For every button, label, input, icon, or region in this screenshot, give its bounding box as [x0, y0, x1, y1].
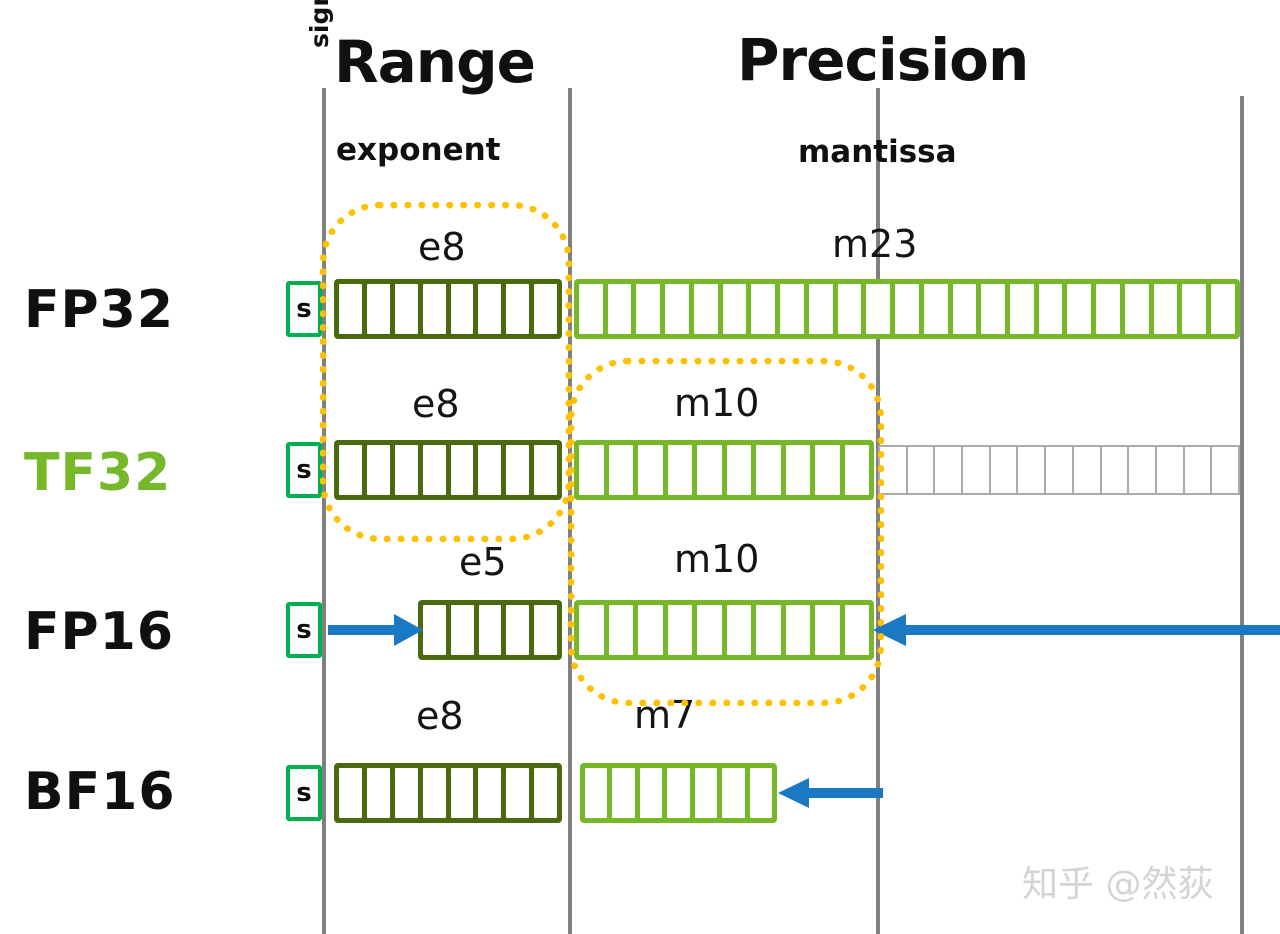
mantissa-label-tf32: m10 — [674, 381, 759, 425]
mantissa-bit-cell — [585, 768, 607, 818]
mantissa-bit-cell — [845, 445, 870, 495]
arrow-left-bf16-mantissa — [777, 777, 883, 809]
mantissa-bit-cell — [723, 284, 747, 334]
exponent-bit-cell — [423, 605, 446, 655]
exponent-bit-cell — [506, 605, 529, 655]
guide-line-exponent — [568, 88, 572, 934]
sign-box-bf16: s — [286, 765, 322, 821]
mantissa-bit-cell — [638, 445, 663, 495]
mantissa-ghost-cell — [1102, 447, 1130, 493]
exponent-bit-cell — [367, 284, 390, 334]
mantissa-bit-cell — [608, 284, 632, 334]
mantissa-bit-cell — [838, 284, 862, 334]
mantissa-bit-cell — [668, 445, 693, 495]
exponent-label-fp16: e5 — [459, 540, 507, 584]
mantissa-bit-cell — [609, 445, 634, 495]
mantissa-bit-cell — [786, 445, 811, 495]
mantissa-bit-cell — [1211, 284, 1235, 334]
mantissa-ghost-bar-tf32 — [878, 445, 1240, 495]
exponent-bit-cell — [367, 445, 390, 495]
guide-line-sign — [322, 88, 326, 934]
mantissa-bit-cell — [668, 605, 693, 655]
format-label-fp16: FP16 — [24, 602, 174, 662]
exponent-bit-cell — [506, 284, 529, 334]
mantissa-bit-cell — [1125, 284, 1149, 334]
mantissa-bit-cell — [640, 768, 662, 818]
exponent-bit-cell — [534, 768, 557, 818]
mantissa-bit-cell — [895, 284, 919, 334]
mantissa-bit-cell — [579, 284, 603, 334]
mantissa-bit-cell — [780, 284, 804, 334]
mantissa-bit-cell — [924, 284, 948, 334]
arrow-left-fp16-mantissa — [872, 612, 1280, 648]
mantissa-bit-cell — [694, 284, 718, 334]
exponent-bit-cell — [534, 605, 557, 655]
exponent-bit-cell — [395, 445, 418, 495]
sign-bit-letter: s — [296, 617, 311, 643]
exponent-bar-bf16 — [334, 763, 562, 823]
watermark: 知乎 @然荻 — [1022, 855, 1213, 907]
sign-box-fp16: s — [286, 602, 322, 658]
mantissa-bit-cell — [866, 284, 890, 334]
exponent-bit-cell — [479, 605, 502, 655]
exponent-bit-cell — [339, 445, 362, 495]
mantissa-bit-cell — [1039, 284, 1063, 334]
exponent-bit-cell — [367, 768, 390, 818]
mantissa-bit-cell — [1154, 284, 1178, 334]
mantissa-bit-cell — [751, 284, 775, 334]
mantissa-ghost-cell — [963, 447, 991, 493]
mantissa-bit-cell — [636, 284, 660, 334]
mantissa-bit-cell — [579, 445, 604, 495]
exponent-label-tf32: e8 — [412, 382, 460, 426]
mantissa-bit-cell — [1096, 284, 1120, 334]
mantissa-bar-bf16 — [580, 763, 777, 823]
mantissa-ghost-cell — [908, 447, 936, 493]
exponent-subtitle: exponent — [336, 132, 501, 168]
mantissa-bit-cell — [612, 768, 634, 818]
exponent-bar-fp16 — [418, 600, 562, 660]
mantissa-label-bf16: m7 — [634, 693, 695, 737]
mantissa-bit-cell — [697, 605, 722, 655]
exponent-bit-cell — [451, 768, 474, 818]
mantissa-subtitle: mantissa — [798, 134, 957, 170]
exponent-bit-cell — [423, 284, 446, 334]
mantissa-bit-cell — [1182, 284, 1206, 334]
guide-line-right-end — [1240, 96, 1244, 934]
mantissa-bit-cell — [727, 605, 752, 655]
exponent-bit-cell — [506, 445, 529, 495]
exponent-bit-cell — [395, 768, 418, 818]
exponent-bit-cell — [339, 768, 362, 818]
mantissa-bit-cell — [609, 605, 634, 655]
exponent-bit-cell — [534, 445, 557, 495]
arrow-right-fp16-exponent — [328, 612, 424, 648]
mantissa-bit-cell — [815, 605, 840, 655]
mantissa-bit-cell — [579, 605, 604, 655]
exponent-label-bf16: e8 — [416, 694, 464, 738]
sign-bit-letter: s — [296, 296, 311, 322]
exponent-bit-cell — [339, 284, 362, 334]
mantissa-ghost-cell — [1212, 447, 1238, 493]
mantissa-bit-cell — [756, 605, 781, 655]
exponent-bit-cell — [395, 284, 418, 334]
mantissa-ghost-cell — [935, 447, 963, 493]
exponent-bit-cell — [478, 768, 501, 818]
mantissa-bit-cell — [638, 605, 663, 655]
precision-title: Precision — [737, 26, 1028, 94]
range-title: Range — [334, 28, 535, 96]
exponent-bar-tf32 — [334, 440, 562, 500]
mantissa-bit-cell — [845, 605, 870, 655]
figure-canvas: sign Range exponent Precision mantissa F… — [0, 0, 1280, 934]
mantissa-label-fp16: m10 — [674, 537, 759, 581]
exponent-bar-fp32 — [334, 279, 562, 339]
mantissa-bit-cell — [697, 445, 722, 495]
mantissa-bit-cell — [981, 284, 1005, 334]
exponent-bit-cell — [478, 445, 501, 495]
mantissa-bit-cell — [727, 445, 752, 495]
mantissa-bit-cell — [1010, 284, 1034, 334]
exponent-bit-cell — [423, 768, 446, 818]
mantissa-ghost-cell — [880, 447, 908, 493]
mantissa-ghost-cell — [1129, 447, 1157, 493]
mantissa-bar-fp32 — [574, 279, 1240, 339]
exponent-bit-cell — [451, 445, 474, 495]
exponent-bit-cell — [423, 445, 446, 495]
mantissa-bit-cell — [809, 284, 833, 334]
exponent-bit-cell — [534, 284, 557, 334]
mantissa-label-fp32: m23 — [832, 222, 917, 266]
mantissa-ghost-cell — [1157, 447, 1185, 493]
sign-box-tf32: s — [286, 442, 322, 498]
mantissa-bit-cell — [756, 445, 781, 495]
mantissa-bit-cell — [786, 605, 811, 655]
mantissa-bar-fp16 — [574, 600, 874, 660]
mantissa-ghost-cell — [1185, 447, 1213, 493]
sign-column-label: sign — [305, 0, 334, 48]
mantissa-ghost-cell — [1046, 447, 1074, 493]
mantissa-bit-cell — [1067, 284, 1091, 334]
mantissa-bit-cell — [695, 768, 717, 818]
format-label-fp32: FP32 — [24, 280, 174, 340]
sign-box-fp32: s — [286, 281, 322, 337]
mantissa-ghost-cell — [1074, 447, 1102, 493]
exponent-label-fp32: e8 — [418, 225, 466, 269]
mantissa-bit-cell — [953, 284, 977, 334]
mantissa-bit-cell — [667, 768, 689, 818]
exponent-bit-cell — [506, 768, 529, 818]
exponent-bit-cell — [451, 605, 474, 655]
mantissa-ghost-cell — [1018, 447, 1046, 493]
sign-bit-letter: s — [296, 457, 311, 483]
mantissa-bit-cell — [722, 768, 744, 818]
format-label-tf32: TF32 — [24, 443, 171, 503]
mantissa-bar-tf32 — [574, 440, 874, 500]
format-label-bf16: BF16 — [24, 762, 176, 822]
mantissa-bit-cell — [750, 768, 772, 818]
exponent-bit-cell — [451, 284, 474, 334]
mantissa-ghost-cell — [991, 447, 1019, 493]
sign-bit-letter: s — [296, 780, 311, 806]
mantissa-bit-cell — [665, 284, 689, 334]
mantissa-bit-cell — [815, 445, 840, 495]
exponent-bit-cell — [478, 284, 501, 334]
